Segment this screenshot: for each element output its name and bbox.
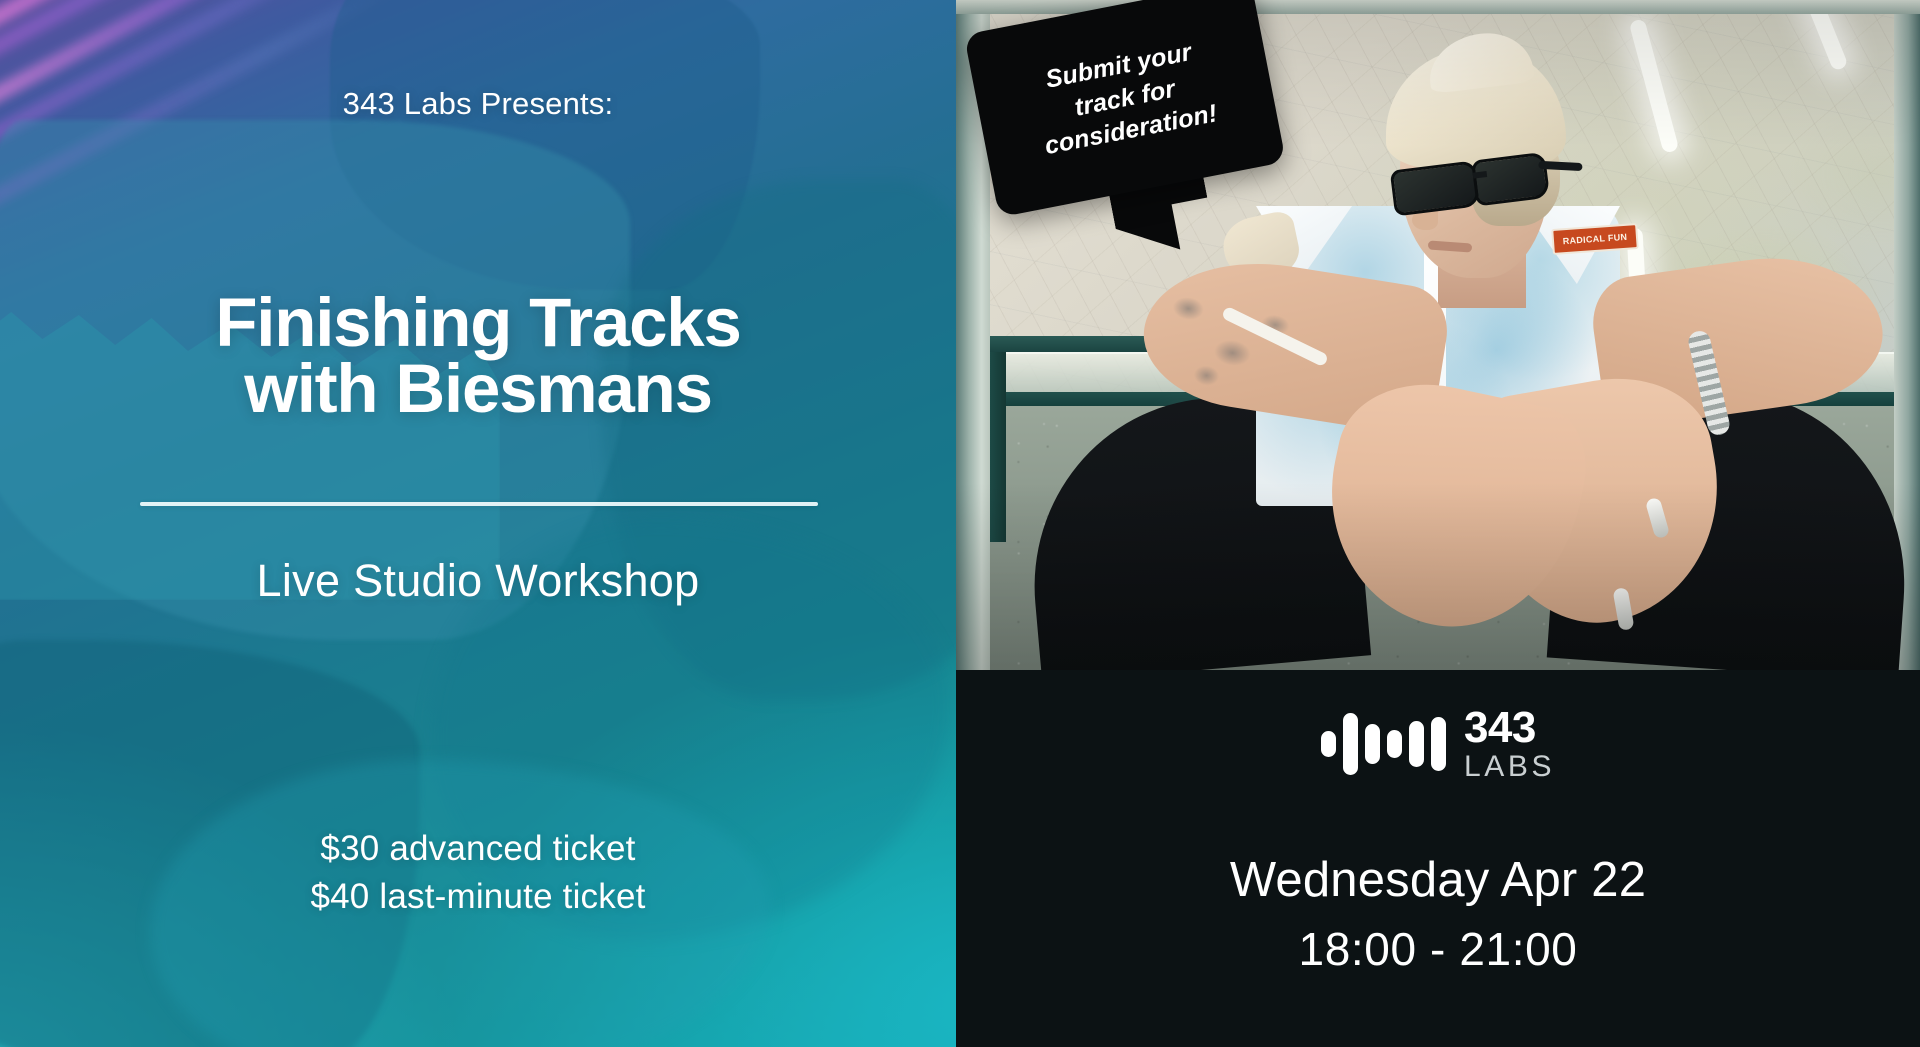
logo-name-343: 343 (1464, 706, 1536, 750)
waveform-bar-5 (1409, 721, 1424, 767)
logo-343-labs: 343 LABS (956, 706, 1920, 782)
presenter-line: 343 Labs Presents: (0, 86, 956, 122)
ticket-pricing: $30 advanced ticket $40 last-minute tick… (0, 825, 956, 920)
event-subtitle: Live Studio Workshop (0, 555, 956, 607)
event-time: 18:00 - 21:00 (956, 922, 1920, 976)
event-poster: 343 Labs Presents: Finishing Tracks with… (0, 0, 1920, 1047)
waveform-bar-2 (1343, 713, 1358, 775)
sunglasses-lens-right (1471, 152, 1550, 207)
logo-name-labs: LABS (1464, 752, 1555, 782)
waveform-bar-3 (1365, 724, 1380, 764)
waveform-bar-4 (1387, 730, 1402, 758)
speech-bubble-text: Submit your track for consideration! (964, 0, 1286, 217)
divider-rule (140, 502, 818, 506)
waveform-bar-1 (1321, 731, 1336, 757)
event-title-line-2: with Biesmans (0, 356, 956, 422)
waveform-icon (1321, 708, 1446, 780)
event-details-panel: 343 LABS Wednesday Apr 22 18:00 - 21:00 (956, 670, 1920, 1047)
price-last-minute: $40 last-minute ticket (0, 873, 956, 921)
event-date: Wednesday Apr 22 (956, 852, 1920, 908)
left-info-panel: 343 Labs Presents: Finishing Tracks with… (0, 0, 956, 1047)
artist-photo: RADICAL FUN (956, 0, 1920, 670)
event-title-line-1: Finishing Tracks (0, 290, 956, 356)
event-title: Finishing Tracks with Biesmans (0, 290, 956, 421)
price-advanced: $30 advanced ticket (0, 825, 956, 873)
sunglasses-lens-left (1390, 160, 1481, 216)
waveform-bar-6 (1431, 717, 1446, 771)
logo-wordmark: 343 LABS (1464, 706, 1555, 782)
head (1376, 52, 1568, 284)
right-panel: RADICAL FUN (956, 0, 1920, 1047)
left-panel-content: 343 Labs Presents: Finishing Tracks with… (0, 0, 956, 1047)
